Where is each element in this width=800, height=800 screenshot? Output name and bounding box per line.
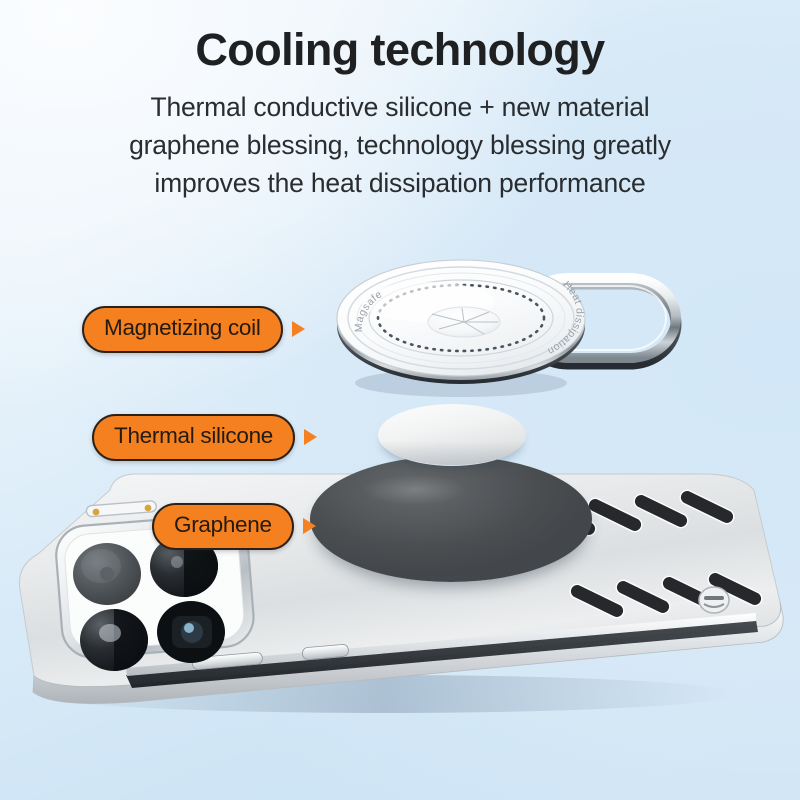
- camera-lens-2-glint: [171, 556, 183, 568]
- callout-magnetizing-coil[interactable]: Magnetizing coil: [82, 306, 305, 353]
- camera-lens-3-glint: [99, 624, 121, 642]
- disc-center-hub: [428, 307, 500, 337]
- magnetic-ring-module: Magsafe Heat dissipation case: [306, 252, 696, 402]
- callout-thermal-silicone[interactable]: Thermal silicone: [92, 414, 317, 461]
- camera-lens-1-inner: [100, 567, 114, 581]
- callout-label-thermal-silicone[interactable]: Thermal silicone: [92, 414, 295, 461]
- case-grommet: [699, 587, 729, 613]
- subtitle-line-3: improves the heat dissipation performanc…: [44, 164, 756, 202]
- thermal-silicone-pad: [378, 404, 526, 466]
- subtitle-line-1: Thermal conductive silicone + new materi…: [44, 88, 756, 126]
- graphene-pad: [310, 456, 592, 582]
- camera-lens-1-glint: [81, 549, 121, 583]
- callout-label-graphene[interactable]: Graphene: [152, 503, 294, 550]
- product-infographic: Cooling technology Thermal conductive si…: [0, 0, 800, 800]
- graphene-highlight: [341, 469, 488, 512]
- page-title: Cooling technology: [0, 26, 800, 75]
- arrow-right-icon: [303, 518, 316, 534]
- silicone-rim: [379, 411, 525, 465]
- callout-graphene[interactable]: Graphene: [152, 503, 316, 550]
- subtitle-line-2: graphene blessing, technology blessing g…: [44, 126, 756, 164]
- arrow-right-icon: [304, 429, 317, 445]
- callout-label-magnetizing-coil[interactable]: Magnetizing coil: [82, 306, 283, 353]
- page-subtitle: Thermal conductive silicone + new materi…: [0, 88, 800, 202]
- camera-lens-4-flare: [184, 623, 194, 633]
- ring-module-svg: Magsafe Heat dissipation case: [306, 252, 696, 402]
- arrow-right-icon: [292, 321, 305, 337]
